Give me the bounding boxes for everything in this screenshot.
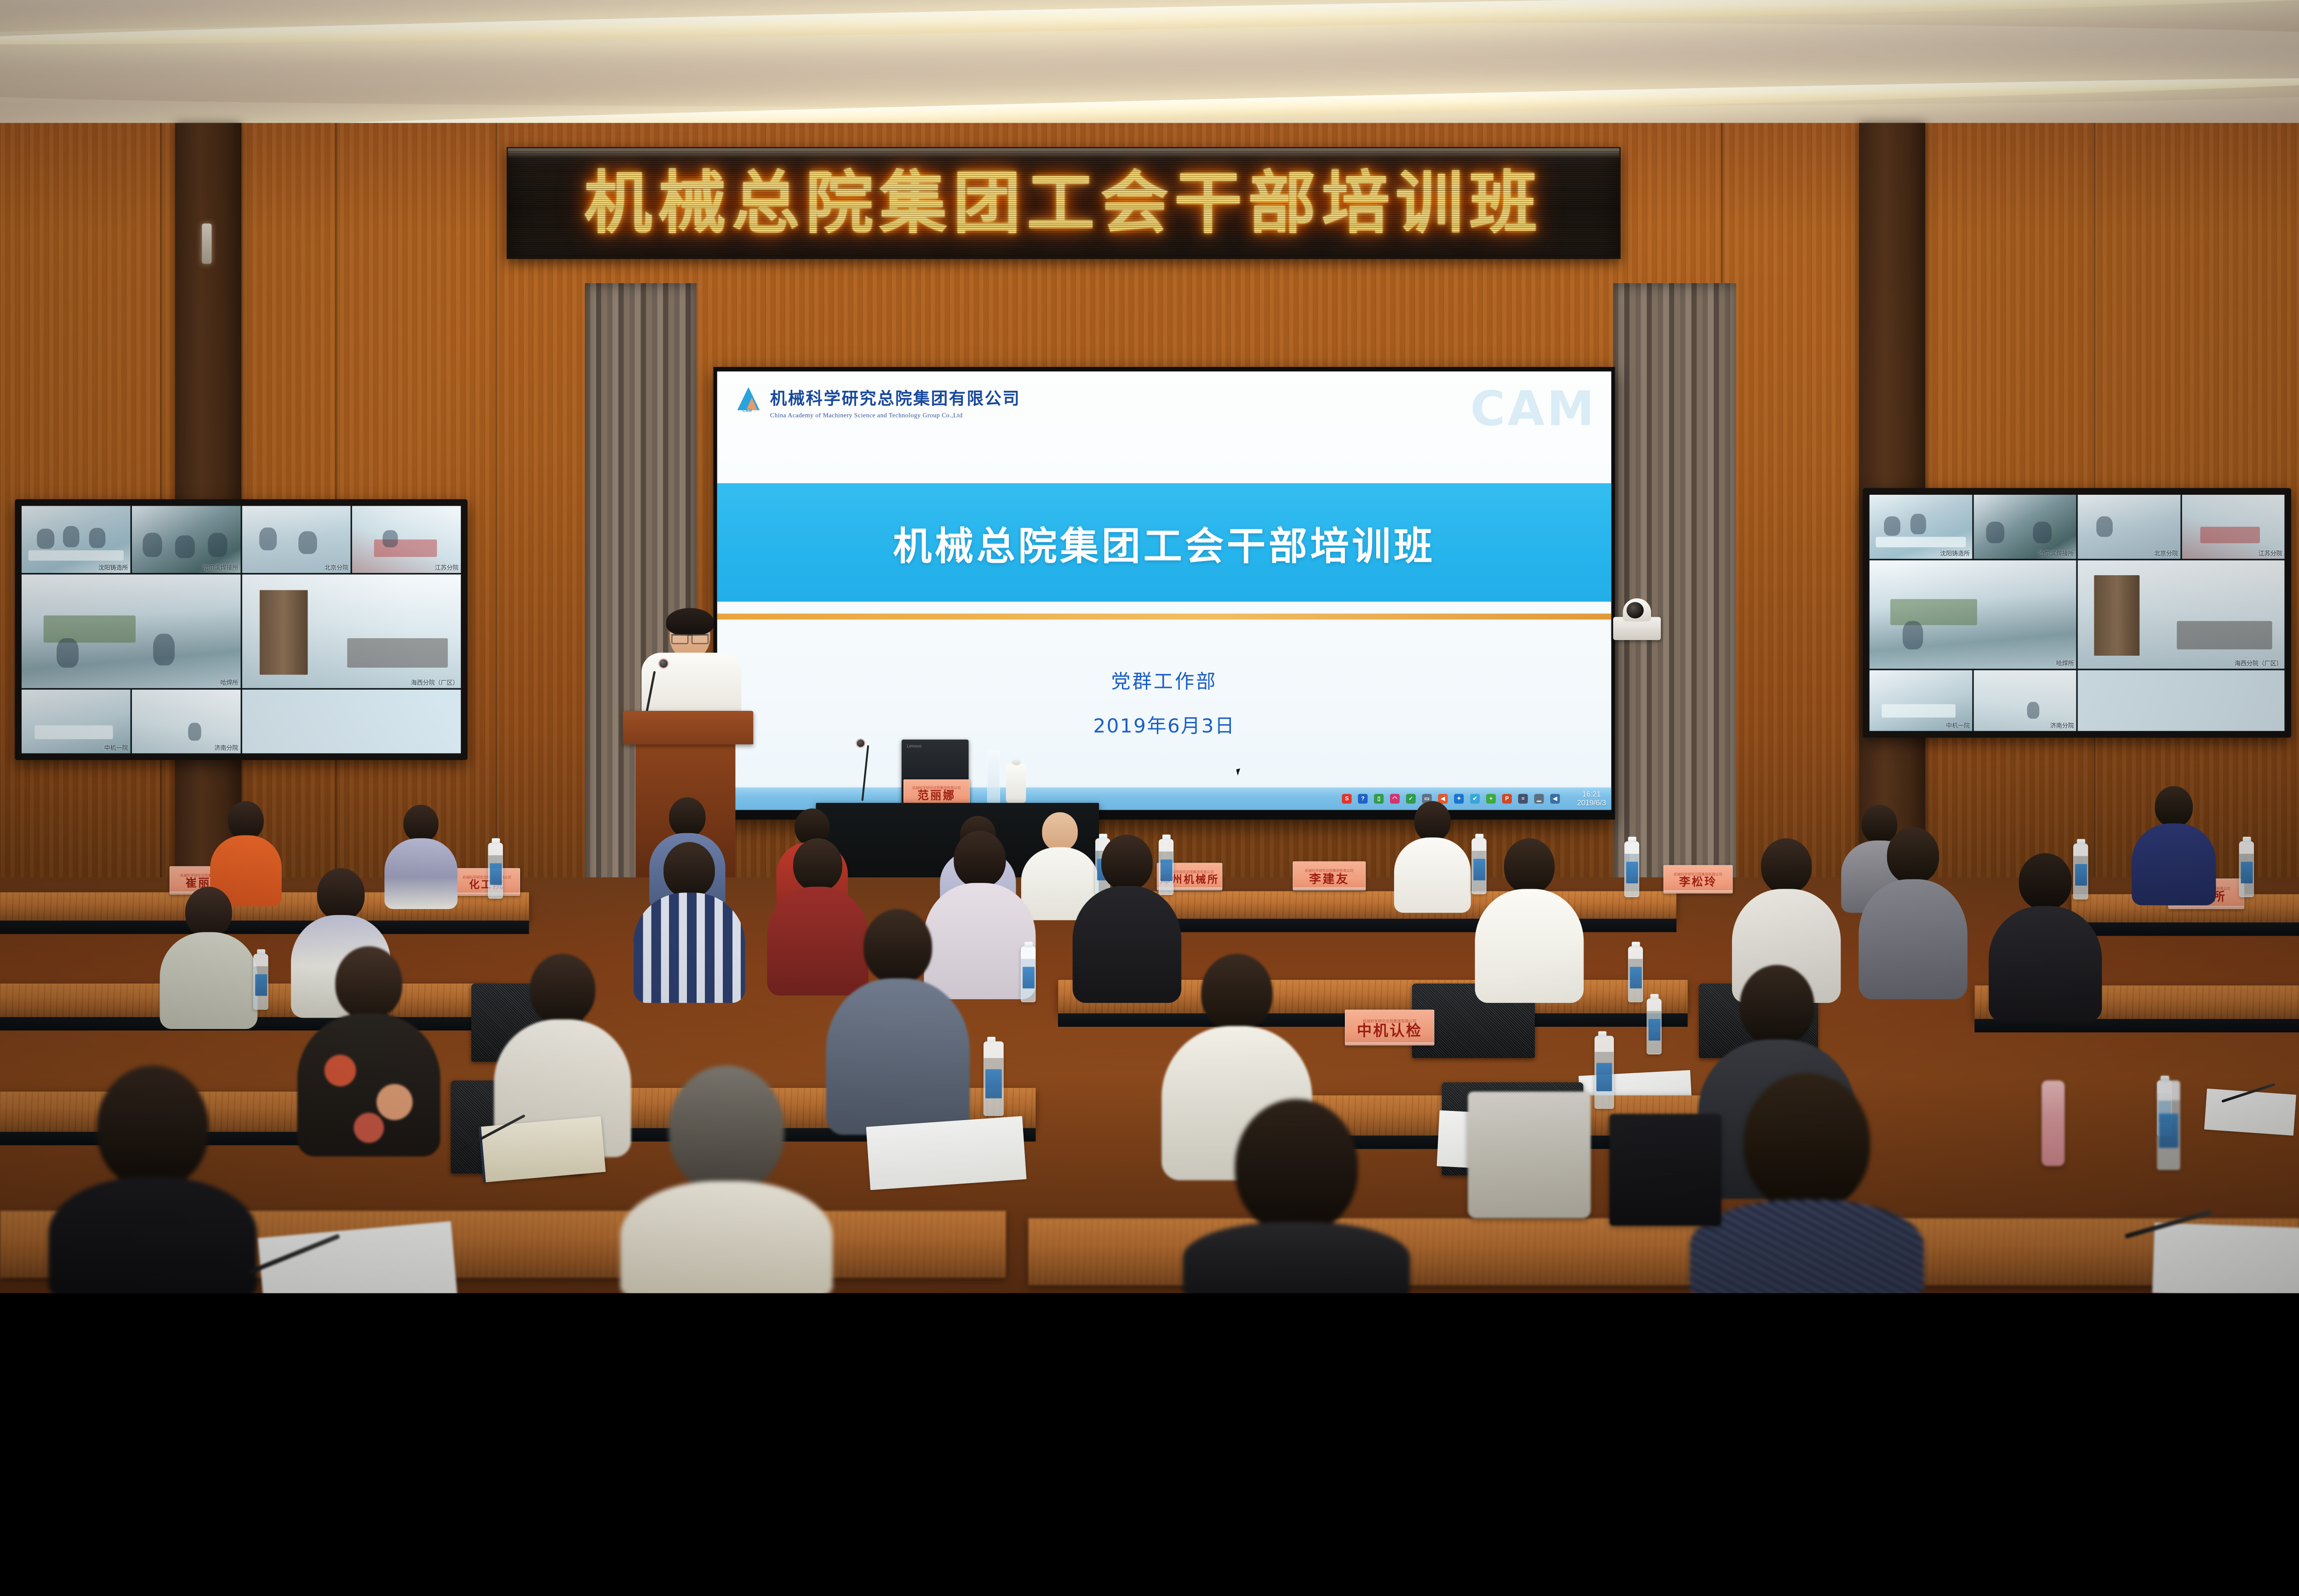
mouse-cursor-icon: [1236, 768, 1244, 776]
feed-cell-empty: [242, 690, 461, 753]
water-bottle: [1628, 946, 1643, 1002]
feed-label: 哈焊所: [2056, 658, 2074, 667]
backpack: [1609, 1114, 1721, 1226]
feed-cell: 济南分院: [1973, 670, 2076, 731]
feed-cell: 中机一院: [1870, 670, 1972, 731]
feed-label: 海西分院（厂区）: [411, 678, 459, 686]
nameplate-name: 范丽娜: [918, 790, 956, 801]
feed-cell: 海西分院（厂区）: [2078, 560, 2285, 669]
nameplate: 机械科学研究总院集团有限公司 化工院: [454, 868, 520, 896]
attendee-foreground: [48, 1065, 257, 1293]
nameplate: 机械科学研究总院集团有限公司 李建友: [1293, 861, 1366, 890]
feed-cell: 济南分院: [132, 690, 240, 753]
feed-label: 江苏分院: [435, 562, 459, 571]
signal-icon[interactable]: ▁: [1534, 794, 1544, 804]
feed-cell: 江苏分院: [2182, 495, 2284, 559]
water-bottle: [1624, 841, 1639, 898]
video-conference-monitor-right: 沈阳铸造所 哈尔滨焊接所 北京分院 江苏分院 哈焊所: [1863, 488, 2291, 738]
usb-drive-icon[interactable]: ▯: [1374, 794, 1384, 804]
attendee-foreground: [622, 1065, 831, 1293]
attendee: [827, 909, 969, 1133]
attendee: [2131, 786, 2217, 905]
feed-cell-empty: [2078, 670, 2285, 731]
sogou-input-icon[interactable]: S: [1342, 794, 1352, 804]
slide-header: CAM 机械科学研究总院集团有限公司 China Academy of Mach…: [737, 385, 1020, 419]
help-icon[interactable]: ?: [1358, 794, 1367, 804]
slide-department: 党群工作部: [717, 666, 1612, 694]
feed-cell: 海西分院（厂区）: [242, 574, 461, 688]
company-name-cn: 机械科学研究总院集团有限公司: [770, 385, 1020, 409]
attendee-foreground: [1691, 1073, 1922, 1293]
add-icon[interactable]: +: [1486, 794, 1496, 804]
projection-screen: CAM CAM 机械科学研究总院集团有限公司 China Academy of …: [714, 367, 1615, 819]
handout-paper: [2152, 1223, 2299, 1293]
feed-cell: 哈尔滨焊接所: [132, 506, 240, 573]
nameplate-logo: 机械科学研究总院集团有限公司: [1305, 868, 1353, 873]
slide-date: 2019年6月3日: [717, 710, 1612, 738]
attendee: [1475, 838, 1584, 1002]
water-bottle: [1021, 946, 1035, 1002]
feed-label: 沈阳铸造所: [98, 562, 128, 571]
feed-cell: 哈焊所: [1870, 560, 2076, 669]
feed-cell: 沈阳铸造所: [22, 506, 130, 573]
cam-watermark: CAM: [1470, 381, 1596, 437]
water-bottle: [984, 1041, 1004, 1116]
attendee: [1393, 801, 1471, 913]
company-logo-icon: CAM: [737, 385, 764, 412]
notebook: [478, 1116, 606, 1182]
clock-date: 2019/6/3: [1577, 799, 1606, 808]
check-icon[interactable]: ✔: [1470, 794, 1480, 804]
feed-label: 济南分院: [2050, 721, 2074, 729]
feed-label: 哈尔滨焊接所: [202, 562, 238, 571]
water-bottle: [1595, 1035, 1614, 1109]
wall-lamp: [202, 223, 212, 264]
conference-room-scene: 机械总院集团工会干部培训班 CAM CAM 机械科学研究总院集团有限公司 Chi…: [0, 0, 2299, 1293]
water-bottle: [1647, 998, 1661, 1054]
podium-microphone-icon: [659, 659, 668, 668]
video-conference-monitor-left: 沈阳铸造所 哈尔滨焊接所 北京分院 江苏分院: [15, 499, 467, 760]
attendee-foreground: [1185, 1099, 1408, 1293]
presentation-slide: CAM CAM 机械科学研究总院集团有限公司 China Academy of …: [717, 372, 1612, 810]
nameplate-name: 李松玲: [1679, 876, 1717, 887]
water-bottle: [488, 843, 503, 899]
feed-cell: 北京分院: [242, 506, 350, 573]
nameplate-name: 中机认检: [1357, 1024, 1423, 1038]
water-bottle: [2157, 1081, 2180, 1170]
handout-paper: [2204, 1088, 2296, 1135]
nameplate: 机械科学研究总院集团有限公司 范丽娜: [904, 779, 970, 806]
feed-label: 北京分院: [2154, 548, 2178, 557]
feed-label: 济南分院: [214, 743, 238, 752]
feed-label: 哈尔滨焊接所: [2038, 548, 2074, 557]
nameplate-logo: 机械科学研究总院集团有限公司: [463, 875, 511, 880]
water-bottle: [2239, 841, 2254, 898]
handbag: [1468, 1092, 1590, 1218]
feed-cell: 哈焊所: [22, 574, 240, 688]
thermos-bottle: [2042, 1081, 2065, 1166]
led-banner: 机械总院集团工会干部培训班: [507, 147, 1621, 259]
attendee: [298, 946, 440, 1155]
feed-label: 中机一院: [104, 743, 128, 752]
feed-label: 北京分院: [325, 562, 349, 571]
multiview-grid-left: 沈阳铸造所 哈尔滨焊接所 北京分院 江苏分院: [22, 506, 461, 753]
attendee: [160, 887, 257, 1028]
feed-label: 沈阳铸造所: [1940, 548, 1970, 557]
clock-time: 16:21: [1577, 789, 1606, 799]
network-icon[interactable]: ≡: [1518, 794, 1528, 804]
slide-title: 机械总院集团工会干部培训班: [893, 515, 1435, 571]
feed-cell: 哈尔滨焊接所: [1973, 495, 2076, 559]
speaker-icon[interactable]: ◀: [1550, 794, 1560, 804]
nameplate-logo: 机械科学研究总院集团有限公司: [912, 785, 961, 790]
feed-label: 哈焊所: [220, 678, 238, 686]
multiview-grid-right: 沈阳铸造所 哈尔滨焊接所 北京分院 江苏分院 哈焊所: [1870, 495, 2285, 731]
company-name-en: China Academy of Machinery Science and T…: [770, 412, 1020, 419]
powerpoint-icon[interactable]: P: [1502, 794, 1512, 804]
nameplate-logo: 机械科学研究总院集团有限公司: [1363, 1018, 1417, 1024]
nameplate-logo: 机械科学研究总院集团有限公司: [1674, 872, 1722, 877]
attendee: [1859, 827, 1967, 999]
ptz-camera-icon: [1613, 596, 1665, 640]
tea-mug: [1006, 764, 1026, 803]
feed-label: 海西分院（厂区）: [2235, 658, 2282, 667]
slide-title-band: 机械总院集团工会干部培训班: [717, 483, 1612, 602]
taskbar-clock[interactable]: 16:21 2019/6/3: [1577, 789, 1606, 808]
feed-cell: 沈阳铸造所: [1870, 495, 1972, 559]
feed-cell: 北京分院: [2078, 495, 2180, 559]
led-banner-text: 机械总院集团工会干部培训班: [584, 169, 1543, 237]
feed-label: 江苏分院: [2259, 548, 2282, 557]
nameplate: 机械科学研究总院集团有限公司 中机认检: [1345, 1010, 1434, 1046]
feed-label: 中机一院: [1946, 721, 1970, 729]
attendee: [1990, 853, 2101, 1021]
water-bottle: [253, 954, 268, 1010]
handout-paper: [866, 1116, 1026, 1190]
attendee: [633, 842, 745, 1002]
slide-accent-rule: [717, 613, 1612, 619]
water-bottle: [987, 749, 1000, 806]
feed-cell: 中机一院: [22, 690, 130, 753]
laptop-brand-label: Lenovo: [907, 744, 921, 749]
nameplate-name: 李建友: [1309, 873, 1350, 885]
table-microphone-icon: [857, 739, 864, 747]
stage-curtain-right: [1613, 283, 1736, 894]
attendee: [384, 805, 458, 909]
feed-cell: 江苏分院: [352, 506, 461, 573]
slide-footer: 党群工作部 2019年6月3日: [717, 666, 1612, 738]
nameplate: 机械科学研究总院集团有限公司 李松玲: [1664, 865, 1733, 893]
